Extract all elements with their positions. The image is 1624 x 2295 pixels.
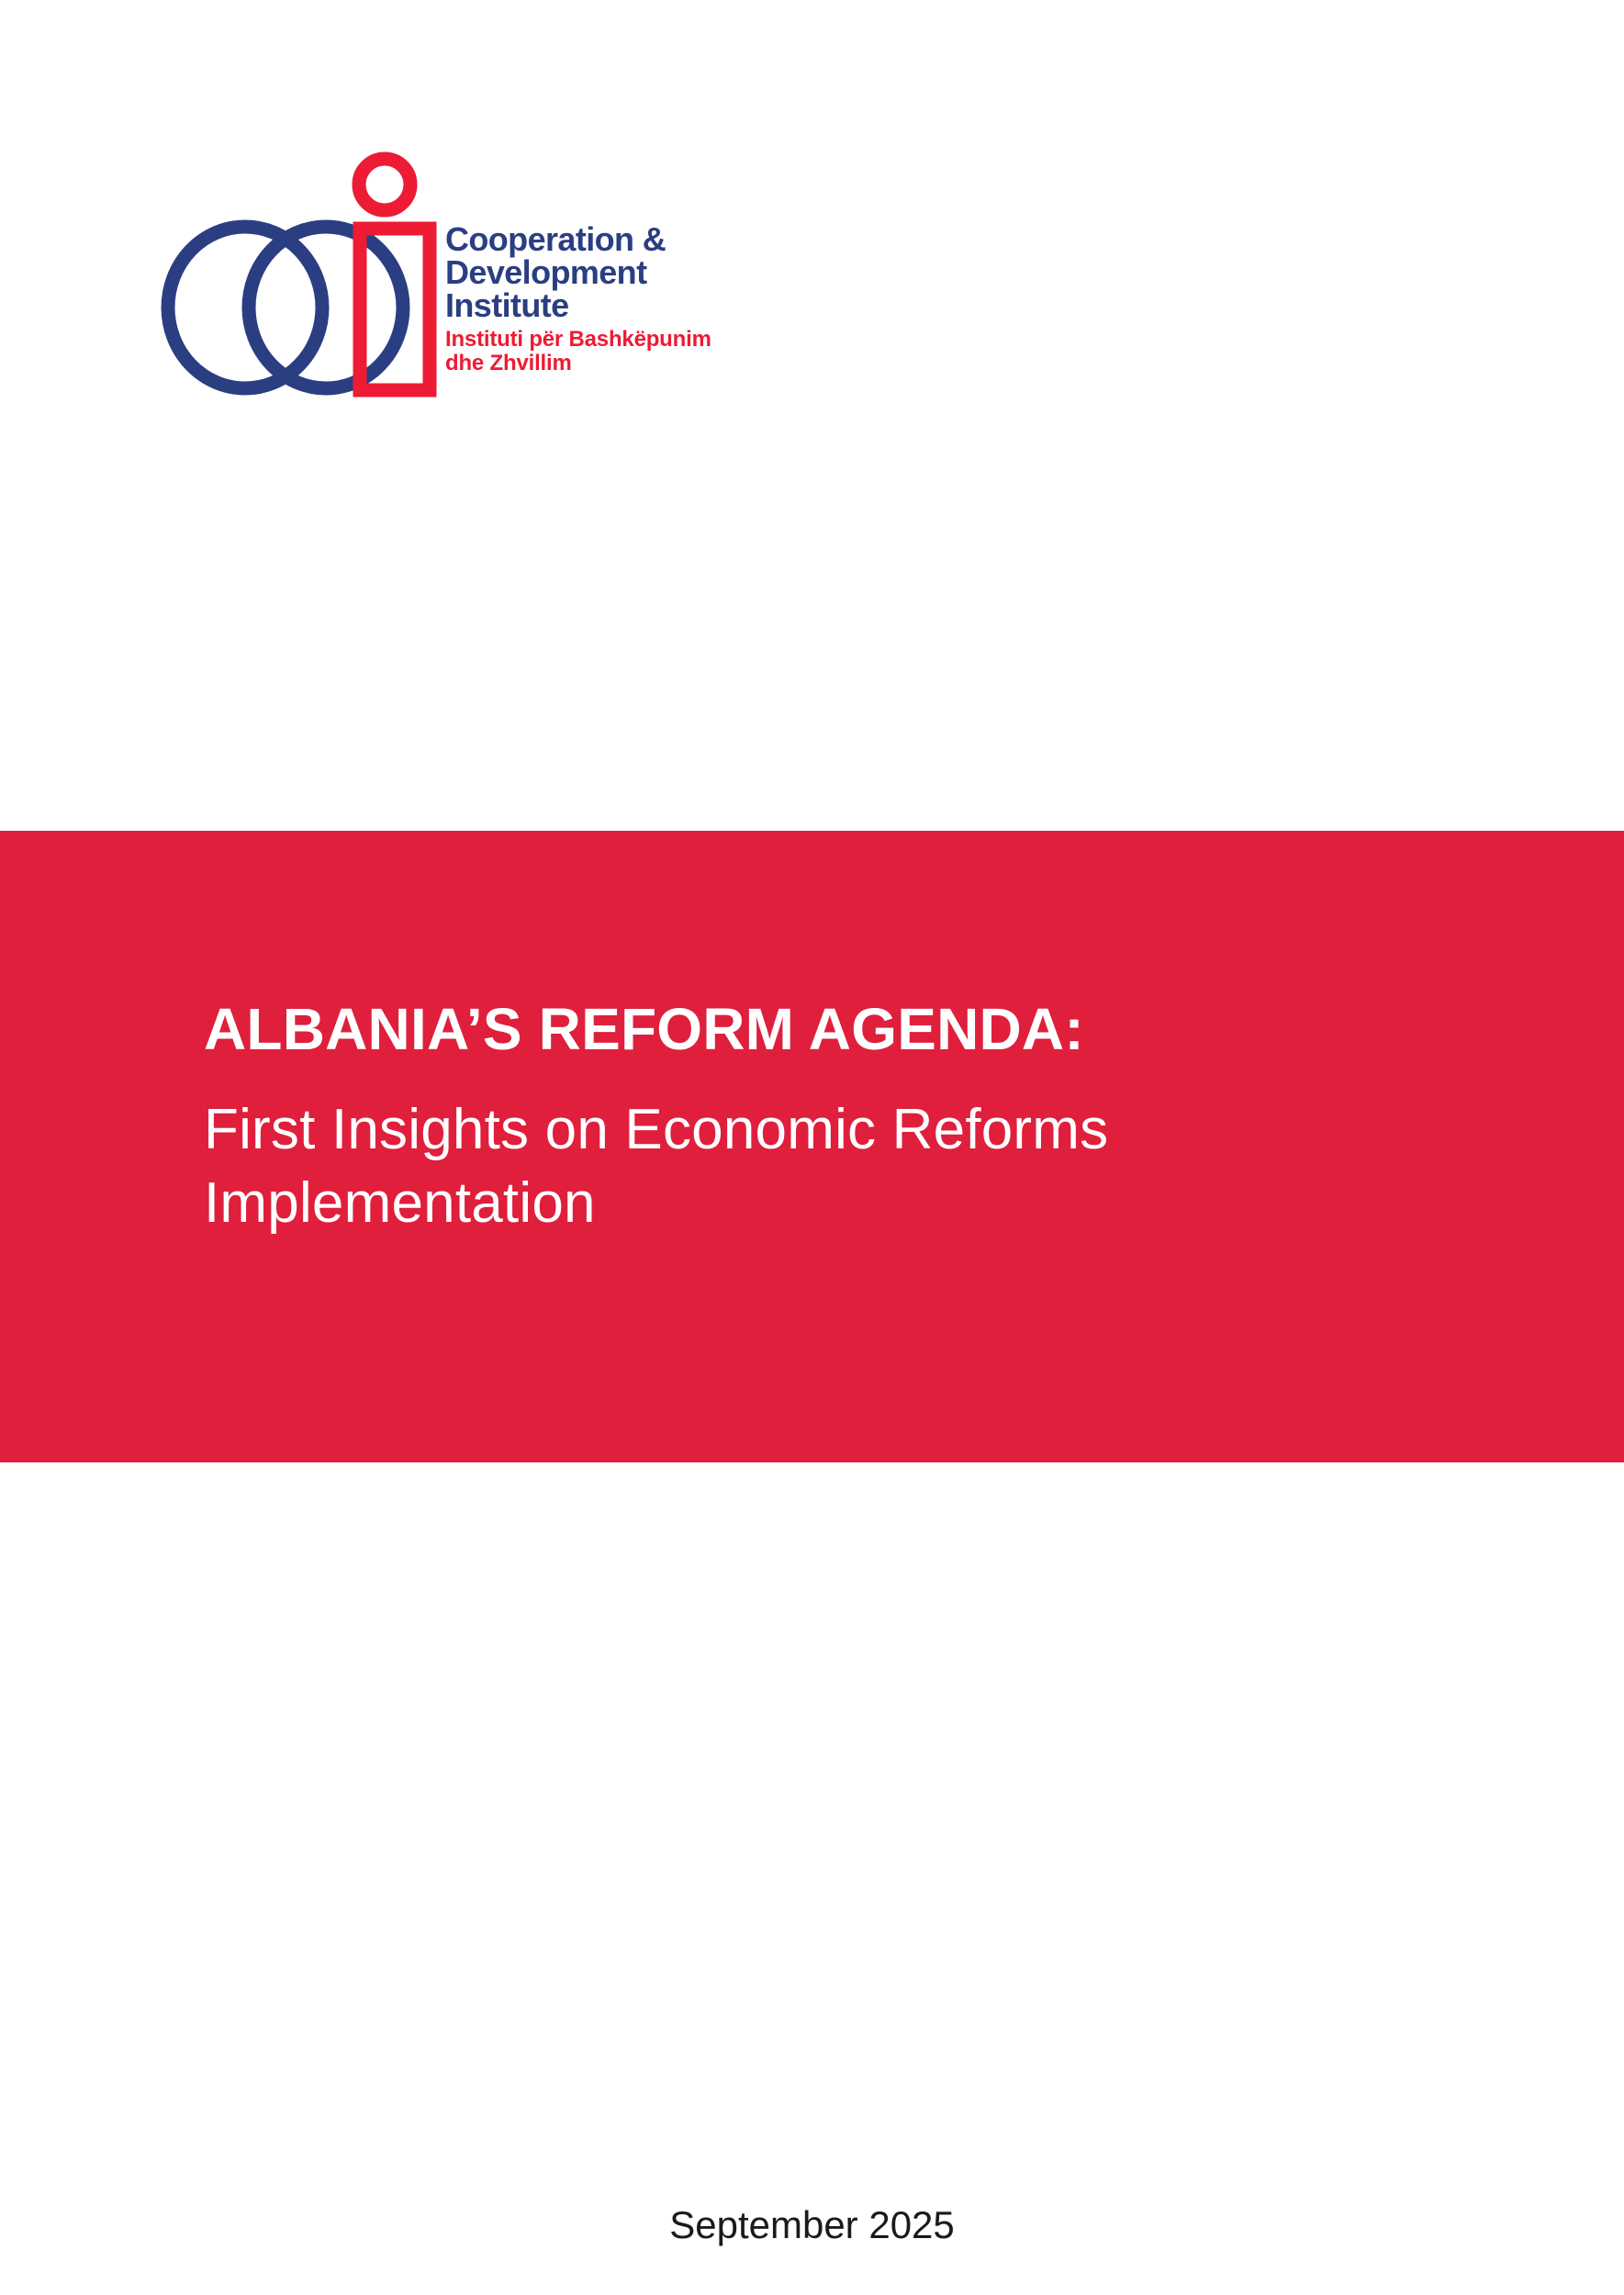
logo-name-line-1: Cooperation &: [445, 223, 748, 256]
logo-albanian-line-1: Instituti për Bashkëpunim: [445, 328, 748, 352]
cover-page: Cooperation & Development Institute Inst…: [0, 0, 1624, 2295]
page-title: ALBANIA’S REFORM AGENDA:: [204, 996, 1514, 1062]
logo-name-line-3: Institute: [445, 289, 748, 322]
page-subtitle-line-1: First Insights on Economic Reforms: [204, 1093, 1287, 1167]
cdi-ooi-monogram-icon: [156, 151, 473, 409]
publication-date: September 2025: [0, 2203, 1624, 2247]
page-subtitle-line-2: Implementation: [204, 1167, 1287, 1240]
title-block: ALBANIA’S REFORM AGENDA: First Insights …: [204, 996, 1514, 1240]
logo-wordmark: Cooperation & Development Institute Inst…: [445, 223, 748, 375]
logo-albanian-line-2: dhe Zhvillim: [445, 352, 748, 375]
organization-logo: Cooperation & Development Institute Inst…: [156, 151, 744, 409]
title-banner: ALBANIA’S REFORM AGENDA: First Insights …: [0, 831, 1624, 1462]
logo-name-line-2: Development: [445, 256, 748, 289]
